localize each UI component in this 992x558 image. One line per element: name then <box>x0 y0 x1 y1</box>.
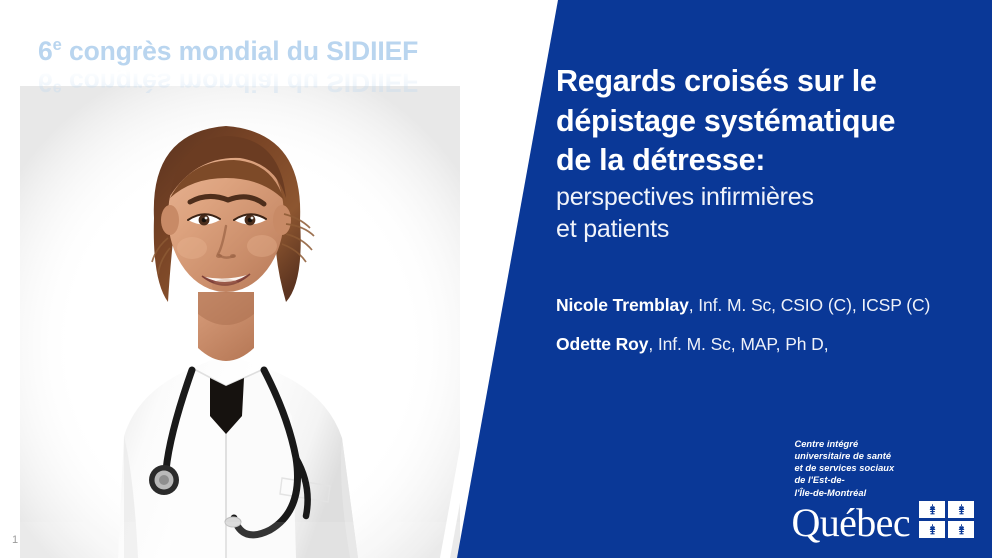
congress-title-ordinal: e <box>53 36 62 54</box>
quebec-logo-block: Centre intégré universitaire de santé et… <box>791 438 974 542</box>
main-title-line-1: Regards croisés sur le <box>556 62 976 102</box>
sub-title: perspectives infirmières et patients <box>556 181 976 246</box>
author-entry: Odette Roy, Inf. M. Sc, MAP, Ph D, <box>556 333 956 356</box>
congress-title-text: congrès mondial du SIDIIEF <box>62 36 419 66</box>
author-name: Nicole Tremblay <box>556 295 689 315</box>
quebec-wordmark: Québec <box>791 504 910 542</box>
fleur-de-lis-icon <box>948 521 974 538</box>
page-number: 1 <box>12 534 18 546</box>
fleur-de-lis-icon <box>919 501 945 518</box>
nurse-photo <box>20 86 460 558</box>
congress-title-reflection: 6e congrès mondial du SIDIIEF <box>38 67 418 97</box>
author-entry: Nicole Tremblay, Inf. M. Sc, CSIO (C), I… <box>556 294 956 317</box>
main-title: Regards croisés sur le dépistage systéma… <box>556 62 976 181</box>
author-credentials: , Inf. M. Sc, MAP, Ph D, <box>648 334 828 354</box>
fleur-de-lis-icon <box>948 501 974 518</box>
congress-reflection-ordinal: e <box>53 80 62 98</box>
ciusss-organization-name: Centre intégré universitaire de santé et… <box>794 438 974 499</box>
authors-block: Nicole Tremblay, Inf. M. Sc, CSIO (C), I… <box>556 294 956 357</box>
main-title-line-3: de la détresse: <box>556 141 976 181</box>
congress-title: 6e congrès mondial du SIDIIEF <box>38 36 418 66</box>
quebec-flag-icon <box>919 501 974 538</box>
title-block: Regards croisés sur le dépistage systéma… <box>556 62 976 246</box>
congress-reflection-number: 6 <box>38 68 53 98</box>
congress-heading-group: 6e congrès mondial du SIDIIEF 6e congrès… <box>38 36 418 98</box>
presentation-slide: 6e congrès mondial du SIDIIEF 6e congrès… <box>0 0 992 558</box>
congress-title-number: 6 <box>38 36 53 66</box>
author-credentials: , Inf. M. Sc, CSIO (C), ICSP (C) <box>689 295 931 315</box>
fleur-de-lis-icon <box>919 521 945 538</box>
sub-title-line-2: et patients <box>556 213 976 246</box>
sub-title-line-1: perspectives infirmières <box>556 181 976 214</box>
main-title-line-2: dépistage systématique <box>556 102 976 142</box>
quebec-wordmark-row: Québec <box>791 501 974 542</box>
author-name: Odette Roy <box>556 334 648 354</box>
congress-reflection-text: congrès mondial du SIDIIEF <box>62 68 419 98</box>
